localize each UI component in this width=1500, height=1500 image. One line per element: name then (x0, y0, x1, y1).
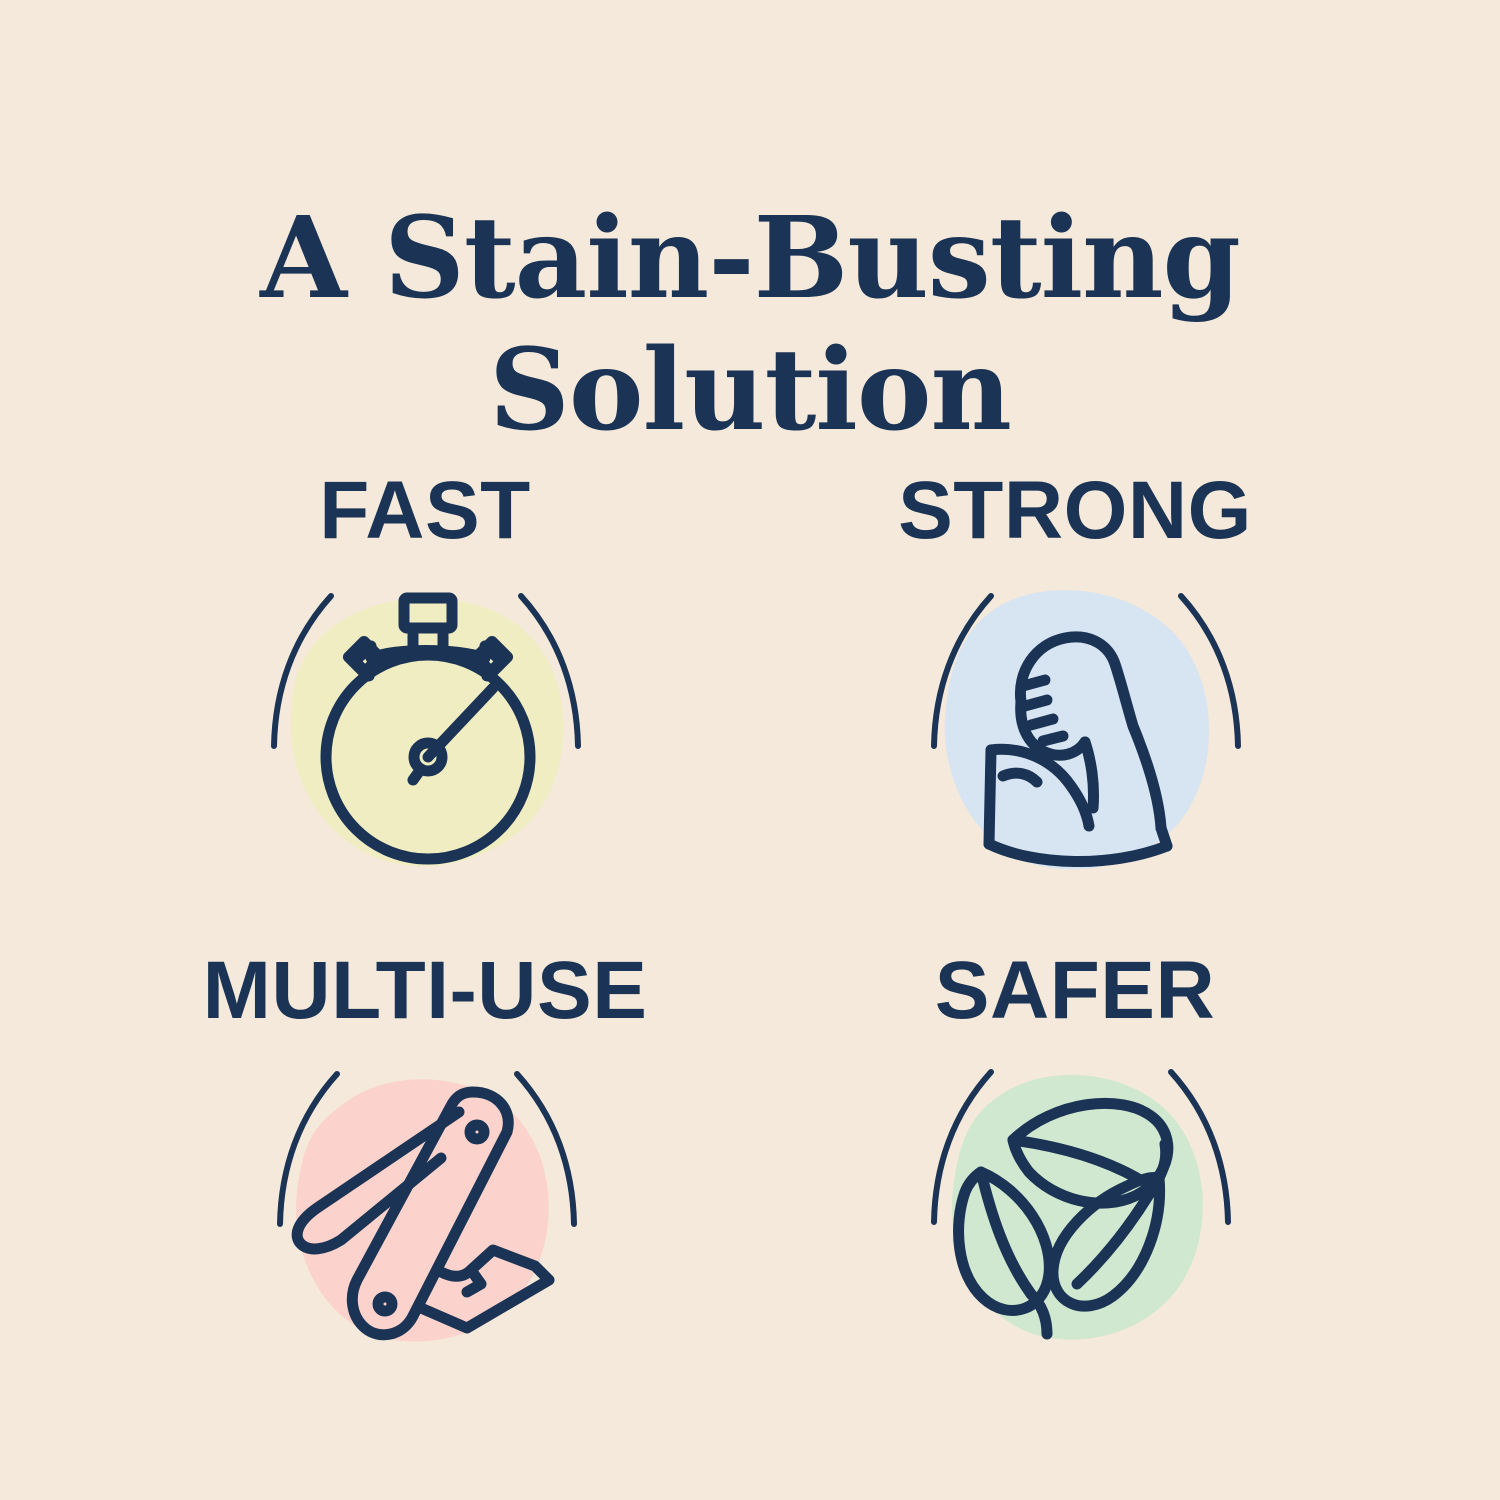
poster-canvas: A Stain-Busting Solution FAST (0, 0, 1500, 1500)
flexed-bicep-icon (895, 560, 1255, 890)
page-title: A Stain-Busting Solution (0, 193, 1500, 457)
feature-fast: FAST (120, 470, 730, 930)
feature-grid: FAST (120, 470, 1380, 1410)
feature-safer: SAFER (770, 950, 1380, 1410)
feature-label-strong: STRONG (898, 470, 1252, 552)
three-leaves-icon (895, 1040, 1255, 1370)
feature-label-multi-use: MULTI-USE (203, 950, 648, 1032)
feature-label-fast: FAST (319, 470, 531, 552)
page-title-line-2: Solution (0, 325, 1500, 457)
swiss-army-knife-icon (245, 1040, 605, 1370)
feature-label-safer: SAFER (935, 950, 1215, 1032)
feature-strong: STRONG (770, 470, 1380, 930)
feature-multi-use: MULTI-USE (120, 950, 730, 1410)
page-title-line-1: A Stain-Busting (0, 193, 1500, 325)
stopwatch-icon (245, 560, 605, 890)
